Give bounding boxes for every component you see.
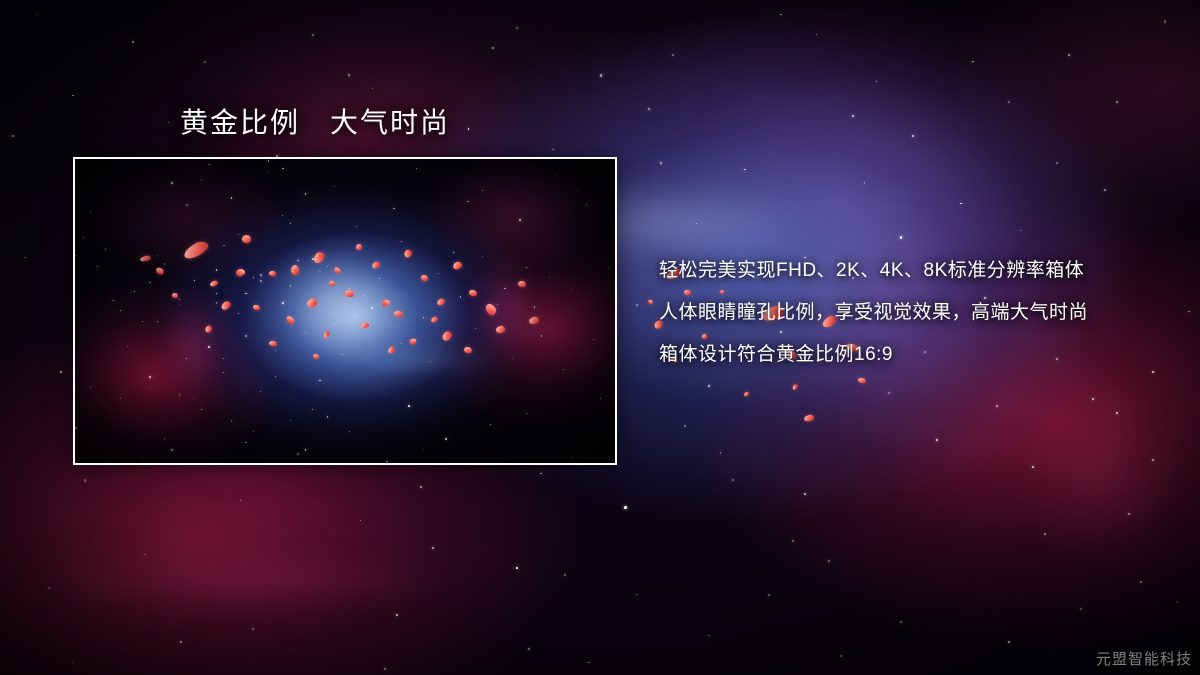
- page-title: 黄金比例 大气时尚: [180, 101, 450, 141]
- body-line-2: 人体眼睛瞳孔比例，享受视觉效果，高端大气时尚: [659, 292, 1179, 334]
- petal: [792, 383, 799, 390]
- petal: [857, 377, 866, 384]
- body-line-1: 轻松完美实现FHD、2K、4K、8K标准分辨率箱体: [659, 250, 1179, 292]
- body-line-3: 箱体设计符合黄金比例16:9: [659, 334, 1179, 376]
- nebula-photo-frame[interactable]: [73, 157, 617, 465]
- petal: [648, 299, 654, 305]
- petal: [743, 391, 749, 397]
- watermark: 元盟智能科技: [1096, 648, 1192, 669]
- frame-image: [75, 159, 615, 463]
- frame-vignette: [75, 159, 615, 463]
- body-text-block: 轻松完美实现FHD、2K、4K、8K标准分辨率箱体 人体眼睛瞳孔比例，享受视觉效…: [659, 250, 1179, 376]
- presentation-slide: 黄金比例 大气时尚 轻松完美实现FHD、2K、4K、8K标准分辨率箱体 人体眼睛…: [0, 0, 1200, 675]
- petal: [803, 414, 814, 422]
